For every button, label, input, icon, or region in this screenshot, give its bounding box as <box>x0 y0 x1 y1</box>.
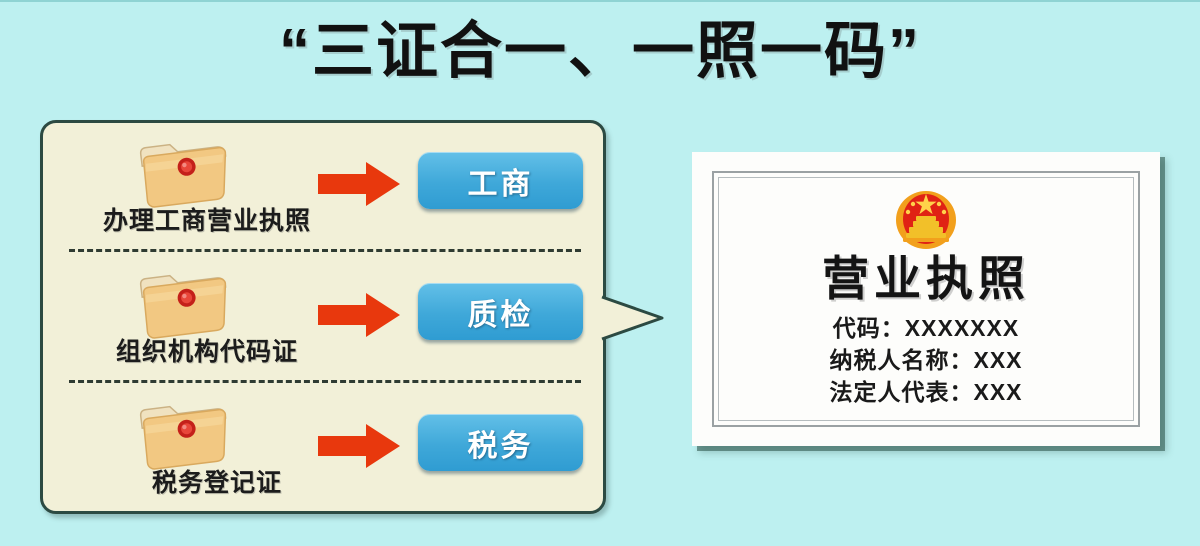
right-arrow-icon <box>316 290 402 340</box>
three-certificates-panel: 办理工商营业执照 工商 组织机 <box>40 120 606 514</box>
folder-with-seal-icon <box>135 390 235 475</box>
certificate-row: 组织机构代码证 质检 <box>43 254 609 385</box>
certificate-label: 组织机构代码证 <box>57 332 357 368</box>
page-title: “三证合一、一照一码” <box>0 16 1200 88</box>
license-field-taxpayer-name: 纳税人名称：XXX <box>719 346 1133 374</box>
business-license-card: 营业执照 代码：XXXXXXX 纳税人名称：XXX 法定人代表：XXX <box>692 152 1160 446</box>
license-border-inner: 营业执照 代码：XXXXXXX 纳税人名称：XXX 法定人代表：XXX <box>718 177 1134 421</box>
agency-button-label: 工商 <box>468 159 534 203</box>
certificate-row: 税务登记证 税务 <box>43 385 609 516</box>
right-arrow-icon <box>316 159 402 209</box>
callout-tail <box>600 294 664 342</box>
license-title: 营业执照 <box>719 252 1133 306</box>
agency-button-quality-inspection[interactable]: 质检 <box>418 283 583 340</box>
china-national-emblem-icon <box>892 184 960 252</box>
slide-canvas: “三证合一、一照一码” 办理工商营业执照 <box>0 0 1200 546</box>
agency-button-tax[interactable]: 税务 <box>418 414 583 471</box>
right-arrow-icon <box>316 421 402 471</box>
agency-button-label: 税务 <box>468 421 534 465</box>
certificate-label: 办理工商营业执照 <box>57 201 357 237</box>
license-field-code: 代码：XXXXXXX <box>719 314 1133 342</box>
agency-button-industry-commerce[interactable]: 工商 <box>418 152 583 209</box>
license-border-outer: 营业执照 代码：XXXXXXX 纳税人名称：XXX 法定人代表：XXX <box>712 171 1140 427</box>
folder-with-seal-icon <box>135 259 235 344</box>
folder-with-seal-icon <box>135 128 235 213</box>
agency-button-label: 质检 <box>468 290 534 334</box>
license-field-legal-representative: 法定人代表：XXX <box>719 378 1133 406</box>
certificate-row: 办理工商营业执照 工商 <box>43 123 609 254</box>
